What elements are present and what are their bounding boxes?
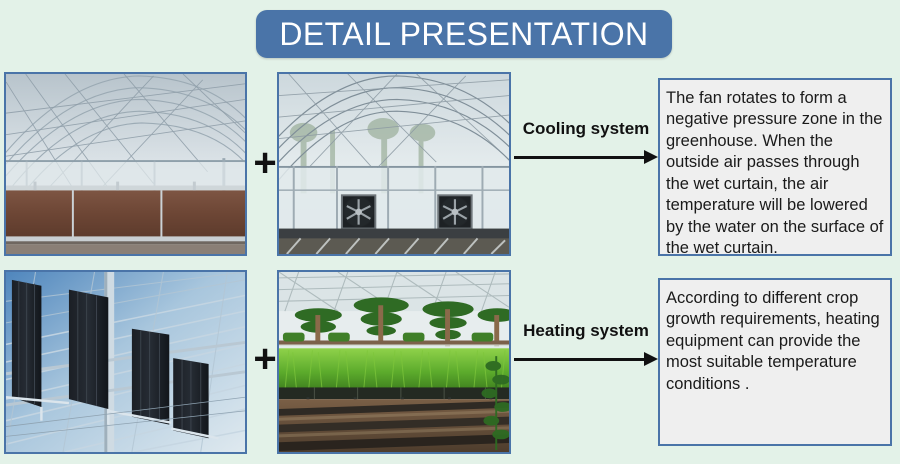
heating-panels-illustration — [6, 272, 245, 452]
photo-greenhouse-heating-panels — [4, 270, 247, 454]
heating-panel-1 — [12, 280, 42, 407]
wet-curtain-illustration — [6, 74, 245, 254]
arrow-group-heating: Heating system — [512, 322, 660, 378]
exhaust-fans-illustration — [279, 74, 509, 254]
arrow-label-cooling: Cooling system — [512, 120, 660, 139]
plus-sign-heating: + — [250, 344, 280, 374]
plus-sign-cooling: + — [250, 148, 280, 178]
description-box-cooling: The fan rotates to form a negative press… — [658, 78, 892, 256]
description-text-heating: According to different crop growth requi… — [666, 288, 886, 395]
description-text-cooling: The fan rotates to form a negative press… — [666, 88, 886, 260]
arrow-group-cooling: Cooling system — [512, 120, 660, 176]
arrow-head-cooling — [644, 150, 658, 164]
fan-right — [437, 194, 472, 229]
photo-greenhouse-wet-curtain — [4, 72, 247, 256]
arrow-shaft-cooling — [514, 156, 646, 159]
fan-left — [341, 194, 376, 229]
arrow-head-heating — [644, 352, 658, 366]
photo-greenhouse-exhaust-fans — [277, 72, 511, 256]
arrow-shaft-heating — [514, 358, 646, 361]
page-title: DETAIL PRESENTATION — [279, 18, 648, 50]
arrow-label-heating: Heating system — [512, 322, 660, 341]
heating-panel-4 — [173, 358, 208, 438]
photo-greenhouse-seedlings — [277, 270, 511, 454]
seedlings-illustration — [279, 272, 509, 452]
heating-panel-2 — [69, 290, 108, 409]
page-title-banner: DETAIL PRESENTATION — [256, 10, 672, 58]
description-box-heating: According to different crop growth requi… — [658, 278, 892, 446]
